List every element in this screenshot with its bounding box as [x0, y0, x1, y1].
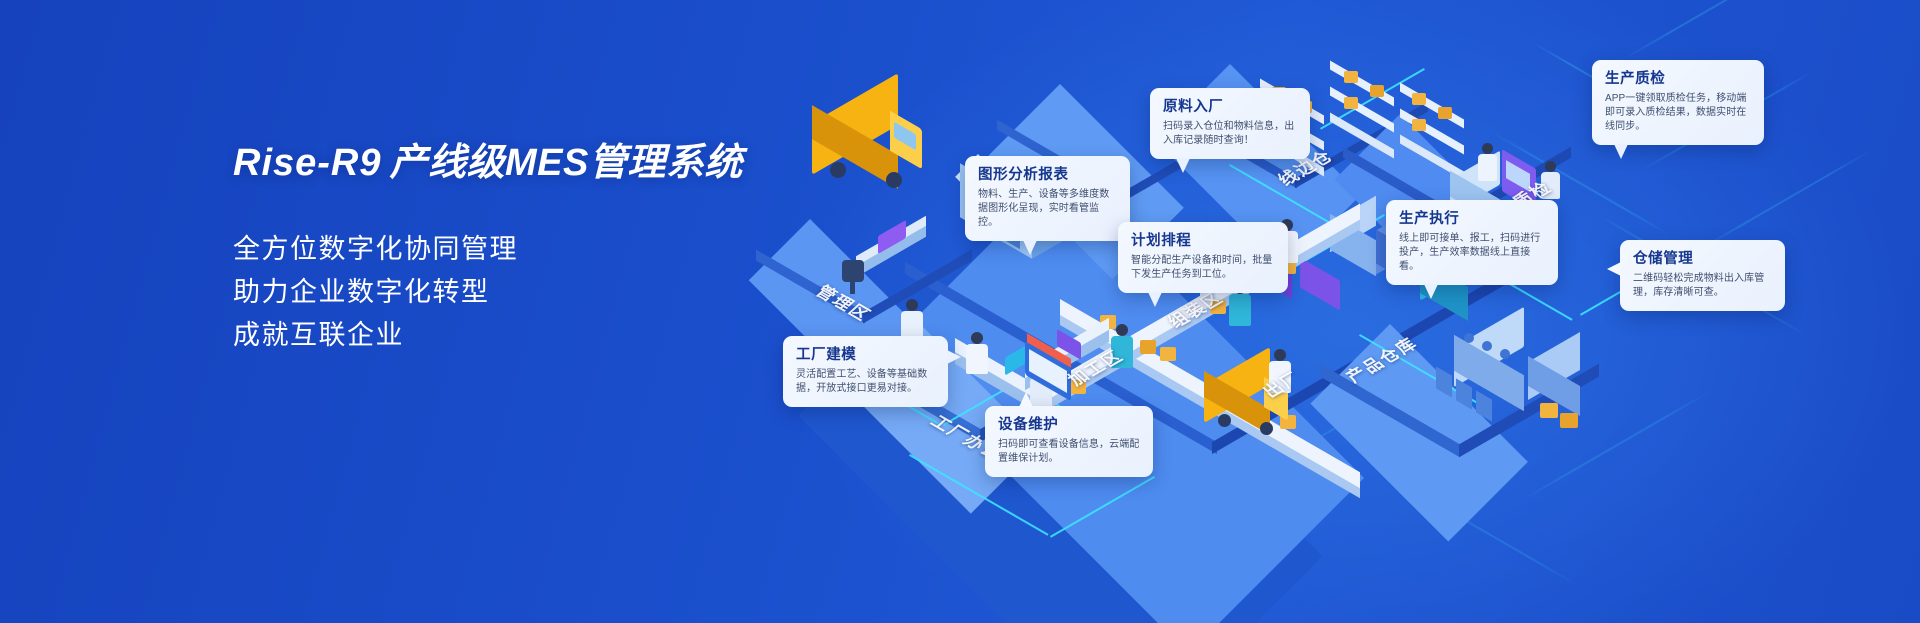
callout-tail-icon [1614, 144, 1628, 159]
callout-title: 生产执行 [1399, 210, 1545, 228]
subtitle-line-3: 成就互联企业 [233, 314, 793, 357]
page-title: Rise-R9产线级MES管理系统 [233, 131, 793, 186]
callout-production-execution[interactable]: 生产执行 线上即可接单、报工，扫码进行投产，生产效率数据线上直接看。 [1386, 200, 1558, 285]
callout-raw-material-inbound[interactable]: 原料入厂 扫码录入仓位和物料信息，出入库记录随时查询！ [1150, 88, 1310, 159]
callout-tail-icon [947, 350, 961, 364]
mes-hero-banner: Rise-R9产线级MES管理系统 全方位数字化协同管理 助力企业数字化转型 成… [0, 0, 1920, 623]
callout-title: 仓储管理 [1633, 250, 1772, 268]
callout-tail-icon [1148, 292, 1162, 307]
subtitle-line-2: 助力企业数字化转型 [233, 271, 793, 314]
callout-plan-scheduling[interactable]: 计划排程 智能分配生产设备和时间，批量下发生产任务到工位。 [1118, 222, 1288, 293]
callout-tail-icon [1176, 158, 1190, 173]
outbound-truck [1190, 354, 1320, 444]
callout-body: 灵活配置工艺、设备等基础数据，开放式接口更易对接。 [796, 368, 935, 396]
callout-tail-icon [1607, 262, 1621, 276]
callout-title: 生产质检 [1605, 70, 1751, 88]
delivery-truck [790, 84, 940, 194]
callout-tail-icon [1424, 284, 1438, 299]
callout-tail-icon [1019, 392, 1033, 407]
callout-body: 二维码轻松完成物料出入库管理，库存清晰可查。 [1633, 272, 1772, 300]
callout-body: 扫码即可查看设备信息，云端配置维保计划。 [998, 438, 1140, 466]
callout-factory-modeling[interactable]: 工厂建模 灵活配置工艺、设备等基础数据，开放式接口更易对接。 [783, 336, 948, 407]
callout-tail-icon [1023, 240, 1037, 255]
callout-body: 扫码录入仓位和物料信息，出入库记录随时查询！ [1163, 120, 1297, 148]
callout-title: 原料入厂 [1163, 98, 1297, 116]
callout-equipment-maintenance[interactable]: 设备维护 扫码即可查看设备信息，云端配置维保计划。 [985, 406, 1153, 477]
finished-goods-warehouse-building [1420, 309, 1640, 449]
callout-production-quality-inspection[interactable]: 生产质检 APP一键领取质检任务，移动端即可录入质检结果，数据实时在线同步。 [1592, 60, 1764, 145]
hero-subtitles: 全方位数字化协同管理 助力企业数字化转型 成就互联企业 [233, 228, 793, 357]
subtitle-line-1: 全方位数字化协同管理 [233, 228, 793, 271]
headline-latin: Rise-R9 [233, 142, 382, 184]
callout-warehouse-management[interactable]: 仓储管理 二维码轻松完成物料出入库管理，库存清晰可查。 [1620, 240, 1785, 311]
callout-title: 图形分析报表 [978, 166, 1117, 184]
callout-title: 计划排程 [1131, 232, 1275, 250]
callout-body: 智能分配生产设备和时间，批量下发生产任务到工位。 [1131, 254, 1275, 282]
callout-title: 设备维护 [998, 416, 1140, 434]
callout-body: 物料、生产、设备等多维度数据图形化呈现，实时看管监控。 [978, 188, 1117, 230]
callout-title: 工厂建模 [796, 346, 935, 364]
callout-body: APP一键领取质检任务，移动端即可录入质检结果，数据实时在线同步。 [1605, 92, 1751, 134]
headline-cjk: 产线级MES管理系统 [390, 142, 743, 184]
callout-body: 线上即可接单、报工，扫码进行投产，生产效率数据线上直接看。 [1399, 232, 1545, 274]
hero-copy: Rise-R9产线级MES管理系统 全方位数字化协同管理 助力企业数字化转型 成… [233, 131, 793, 357]
callout-graphic-analysis-report[interactable]: 图形分析报表 物料、生产、设备等多维度数据图形化呈现，实时看管监控。 [965, 156, 1130, 241]
